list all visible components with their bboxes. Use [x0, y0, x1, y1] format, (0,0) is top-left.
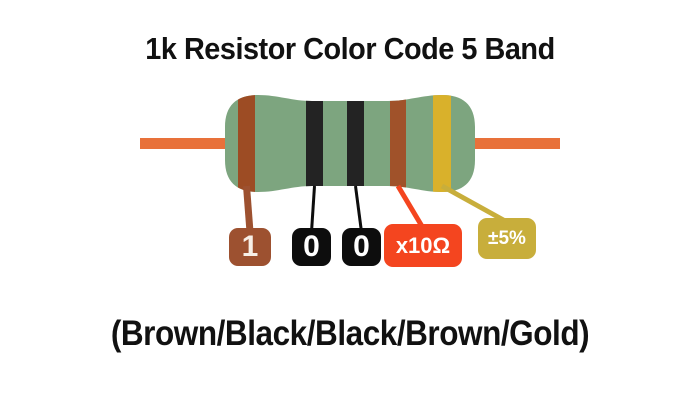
page-caption: (Brown/Black/Black/Brown/Gold) — [35, 313, 665, 355]
band-label-text: 1 — [242, 232, 259, 262]
leader-line-band-1 — [247, 186, 251, 232]
band-label-text: 0 — [303, 232, 320, 262]
resistor-band-brown-4 — [390, 90, 406, 198]
leader-line-band-5 — [442, 186, 507, 222]
resistor-band-brown-1 — [238, 90, 255, 198]
resistor-band-gold-5 — [433, 90, 451, 198]
leader-line-band-3 — [356, 186, 362, 232]
band-label-tolerance: ±5% — [478, 218, 536, 259]
band-label-text: x10Ω — [396, 235, 450, 257]
resistor-color-code-illustration: 1k Resistor Color Code 5 Band 100x10Ω±5%… — [0, 0, 700, 400]
leader-line-band-2 — [312, 186, 315, 232]
resistor-band-black-3 — [347, 90, 364, 198]
resistor-band-black-2 — [306, 90, 323, 198]
band-label-digit-2: 0 — [292, 228, 331, 266]
band-label-text: ±5% — [488, 229, 526, 248]
band-label-multiplier: x10Ω — [384, 224, 462, 267]
resistor-lead-right — [468, 138, 560, 149]
leader-line-band-4 — [398, 186, 423, 228]
band-label-digit-3: 0 — [342, 228, 381, 266]
leader-line-group — [247, 186, 508, 232]
resistor-lead-left — [140, 138, 232, 149]
band-label-digit-1: 1 — [229, 228, 271, 266]
band-label-text: 0 — [353, 232, 370, 262]
